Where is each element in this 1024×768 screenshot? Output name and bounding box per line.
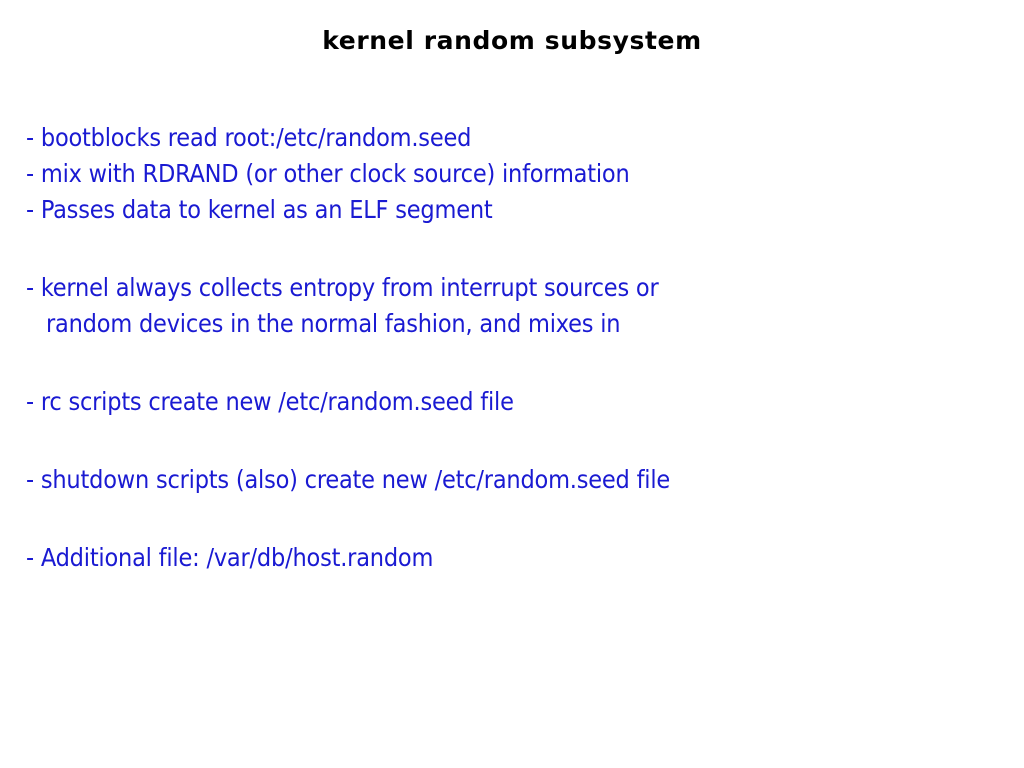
bullet-line: - Additional file: /var/db/host.random bbox=[26, 540, 986, 576]
page-title: kernel random subsystem bbox=[0, 26, 1024, 56]
bullet-line: - Passes data to kernel as an ELF segmen… bbox=[26, 192, 986, 228]
bullet-group-rc-scripts: - rc scripts create new /etc/random.seed… bbox=[26, 384, 986, 420]
bullet-group-additional-file: - Additional file: /var/db/host.random bbox=[26, 540, 986, 576]
bullet-group-shutdown-scripts: - shutdown scripts (also) create new /et… bbox=[26, 462, 986, 498]
bullet-group-boot-sequence: - bootblocks read root:/etc/random.seed-… bbox=[26, 120, 986, 228]
slide-body: - bootblocks read root:/etc/random.seed-… bbox=[26, 120, 986, 576]
bullet-line: - kernel always collects entropy from in… bbox=[26, 270, 986, 306]
bullet-line: - shutdown scripts (also) create new /et… bbox=[26, 462, 986, 498]
bullet-continuation-line: random devices in the normal fashion, an… bbox=[26, 306, 986, 342]
bullet-line: - mix with RDRAND (or other clock source… bbox=[26, 156, 986, 192]
slide-canvas: kernel random subsystem - bootblocks rea… bbox=[0, 0, 1024, 768]
bullet-group-kernel-entropy: - kernel always collects entropy from in… bbox=[26, 270, 986, 342]
bullet-line: - bootblocks read root:/etc/random.seed bbox=[26, 120, 986, 156]
bullet-line: - rc scripts create new /etc/random.seed… bbox=[26, 384, 986, 420]
